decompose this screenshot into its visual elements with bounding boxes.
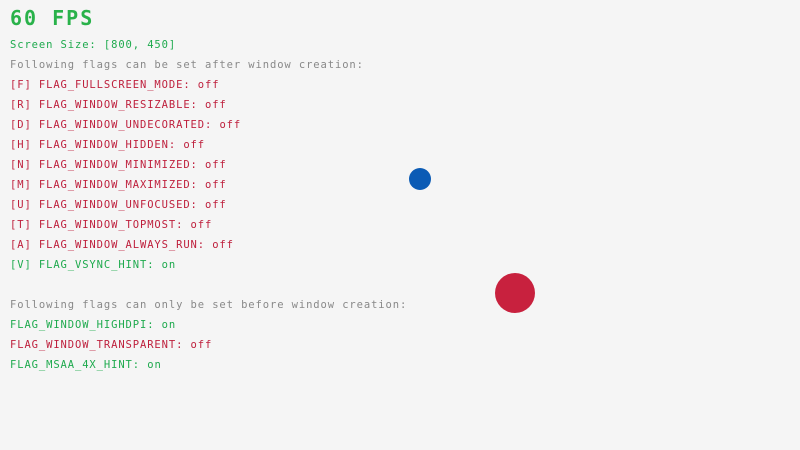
flag-value: off — [183, 139, 205, 151]
red-ball-shape — [495, 273, 535, 313]
flag-row[interactable]: [U] FLAG_WINDOW_UNFOCUSED: off — [10, 200, 227, 211]
blue-ball-shape — [409, 168, 431, 190]
flag-row[interactable]: [A] FLAG_WINDOW_ALWAYS_RUN: off — [10, 240, 234, 251]
flag-name: [M] FLAG_WINDOW_MAXIMIZED: — [10, 179, 205, 191]
flag-value: off — [205, 199, 227, 211]
flag-row[interactable]: [D] FLAG_WINDOW_UNDECORATED: off — [10, 120, 241, 131]
flag-row[interactable]: [F] FLAG_FULLSCREEN_MODE: off — [10, 80, 219, 91]
flag-row: FLAG_MSAA_4X_HINT: on — [10, 360, 162, 371]
flag-value: off — [219, 119, 241, 131]
flag-row[interactable]: [N] FLAG_WINDOW_MINIMIZED: off — [10, 160, 227, 171]
fps-counter: 60 FPS — [10, 8, 94, 28]
flag-name: [A] FLAG_WINDOW_ALWAYS_RUN: — [10, 239, 212, 251]
flag-row[interactable]: [M] FLAG_WINDOW_MAXIMIZED: off — [10, 180, 227, 191]
flag-row[interactable]: [H] FLAG_WINDOW_HIDDEN: off — [10, 140, 205, 151]
flag-row[interactable]: [V] FLAG_VSYNC_HINT: on — [10, 260, 176, 271]
screen-size-label: Screen Size: [800, 450] — [10, 40, 176, 51]
flag-name: [U] FLAG_WINDOW_UNFOCUSED: — [10, 199, 205, 211]
flag-name: [F] FLAG_FULLSCREEN_MODE: — [10, 79, 198, 91]
flag-row: FLAG_WINDOW_HIGHDPI: on — [10, 320, 176, 331]
runtime-flags-heading: Following flags can be set after window … — [10, 60, 364, 71]
creation-flags-heading: Following flags can only be set before w… — [10, 300, 407, 311]
flag-name: FLAG_WINDOW_TRANSPARENT: — [10, 339, 191, 351]
flag-name: [N] FLAG_WINDOW_MINIMIZED: — [10, 159, 205, 171]
flag-value: on — [147, 359, 161, 371]
flag-name: [D] FLAG_WINDOW_UNDECORATED: — [10, 119, 219, 131]
flag-value: on — [162, 319, 176, 331]
flag-value: off — [205, 159, 227, 171]
raylib-window-canvas: 60 FPS Screen Size: [800, 450] Following… — [0, 0, 800, 450]
flag-name: FLAG_MSAA_4X_HINT: — [10, 359, 147, 371]
flag-name: [V] FLAG_VSYNC_HINT: — [10, 259, 162, 271]
flag-value: off — [198, 79, 220, 91]
flag-value: off — [191, 219, 213, 231]
flag-row: FLAG_WINDOW_TRANSPARENT: off — [10, 340, 212, 351]
flag-value: on — [162, 259, 176, 271]
flag-value: off — [191, 339, 213, 351]
flag-name: [R] FLAG_WINDOW_RESIZABLE: — [10, 99, 205, 111]
flag-value: off — [212, 239, 234, 251]
flag-value: off — [205, 179, 227, 191]
flag-row[interactable]: [T] FLAG_WINDOW_TOPMOST: off — [10, 220, 212, 231]
flag-name: [T] FLAG_WINDOW_TOPMOST: — [10, 219, 191, 231]
flag-name: FLAG_WINDOW_HIGHDPI: — [10, 319, 162, 331]
flag-row[interactable]: [R] FLAG_WINDOW_RESIZABLE: off — [10, 100, 227, 111]
flag-name: [H] FLAG_WINDOW_HIDDEN: — [10, 139, 183, 151]
flag-value: off — [205, 99, 227, 111]
